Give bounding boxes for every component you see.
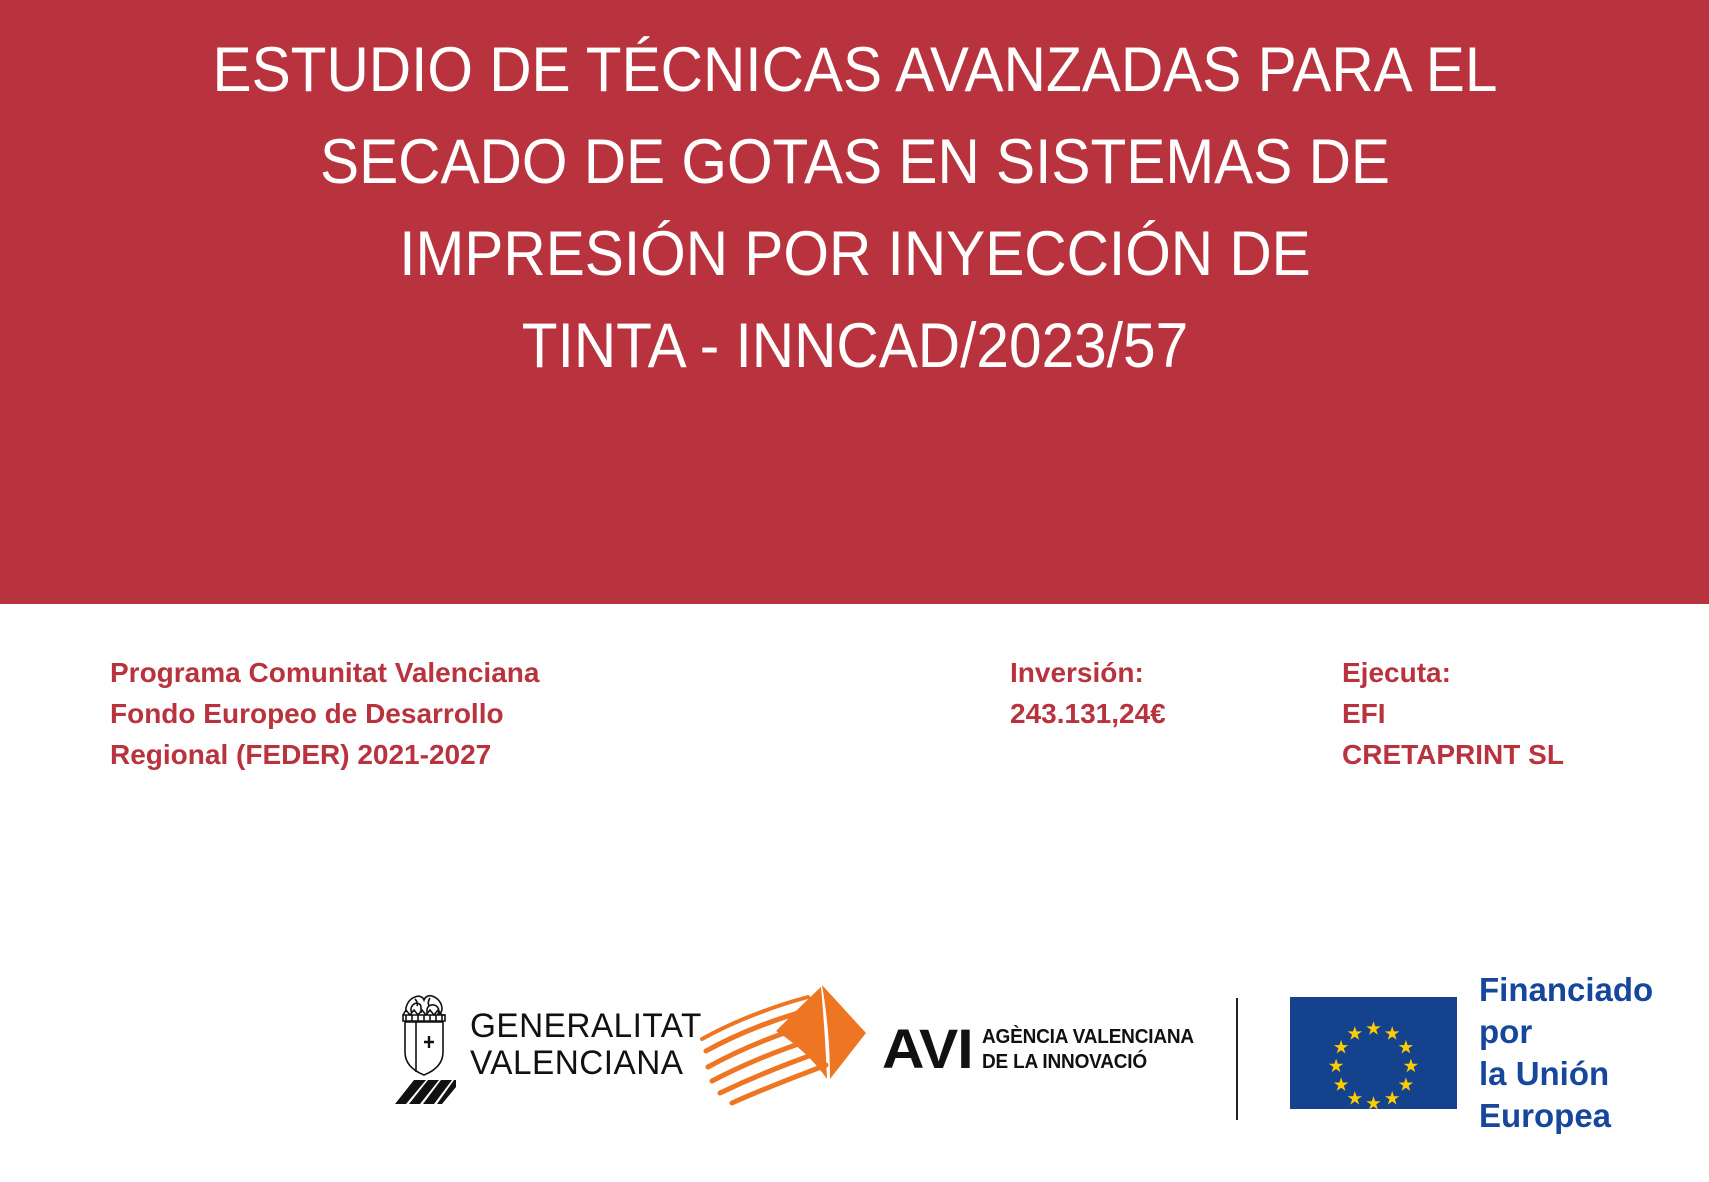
ejecuta-label: Ejecuta: — [1342, 652, 1564, 693]
inversion-amount: 243.131,24€ — [1010, 693, 1166, 734]
inversion-label: Inversión: — [1010, 652, 1166, 693]
logo-divider — [1236, 998, 1238, 1120]
ejecuta-entity-1: EFI — [1342, 693, 1564, 734]
inversion-block: Inversión: 243.131,24€ — [1010, 652, 1166, 734]
programa-block: Programa Comunitat Valenciana Fondo Euro… — [110, 652, 539, 775]
european-union-logo: Financiado por la Unión Europea — [1290, 994, 1709, 1112]
eu-funding-text: Financiado por la Unión Europea — [1479, 969, 1709, 1137]
programa-line-2: Fondo Europeo de Desarrollo — [110, 693, 539, 734]
title-banner: ESTUDIO DE TÉCNICAS AVANZADAS PARA EL SE… — [0, 0, 1709, 604]
generalitat-crest-icon — [392, 986, 456, 1104]
avi-swoosh-icon — [690, 983, 890, 1109]
avi-acronym: AVI — [882, 1015, 973, 1077]
info-row: Programa Comunitat Valenciana Fondo Euro… — [0, 604, 1709, 934]
page-title: ESTUDIO DE TÉCNICAS AVANZADAS PARA EL SE… — [92, 24, 1617, 392]
programa-line-3: Regional (FEDER) 2021-2027 — [110, 734, 539, 775]
logo-strip: GENERALITAT VALENCIANA AVI AGÈNCIA VAL — [0, 960, 1709, 1145]
ejecuta-entity-2: CRETAPRINT SL — [1342, 734, 1564, 775]
avi-logo: AVI AGÈNCIA VALENCIANA DE LA INNOVACIÓ — [690, 982, 1205, 1110]
generalitat-valenciana-logo: GENERALITAT VALENCIANA — [392, 985, 707, 1105]
poster-root: ESTUDIO DE TÉCNICAS AVANZADAS PARA EL SE… — [0, 0, 1709, 1182]
ejecuta-block: Ejecuta: EFI CRETAPRINT SL — [1342, 652, 1564, 775]
generalitat-logo-text: GENERALITAT VALENCIANA — [470, 1008, 702, 1082]
eu-flag-icon — [1290, 997, 1457, 1109]
avi-subtitle: AGÈNCIA VALENCIANA DE LA INNOVACIÓ — [982, 1017, 1194, 1075]
programa-line-1: Programa Comunitat Valenciana — [110, 652, 539, 693]
